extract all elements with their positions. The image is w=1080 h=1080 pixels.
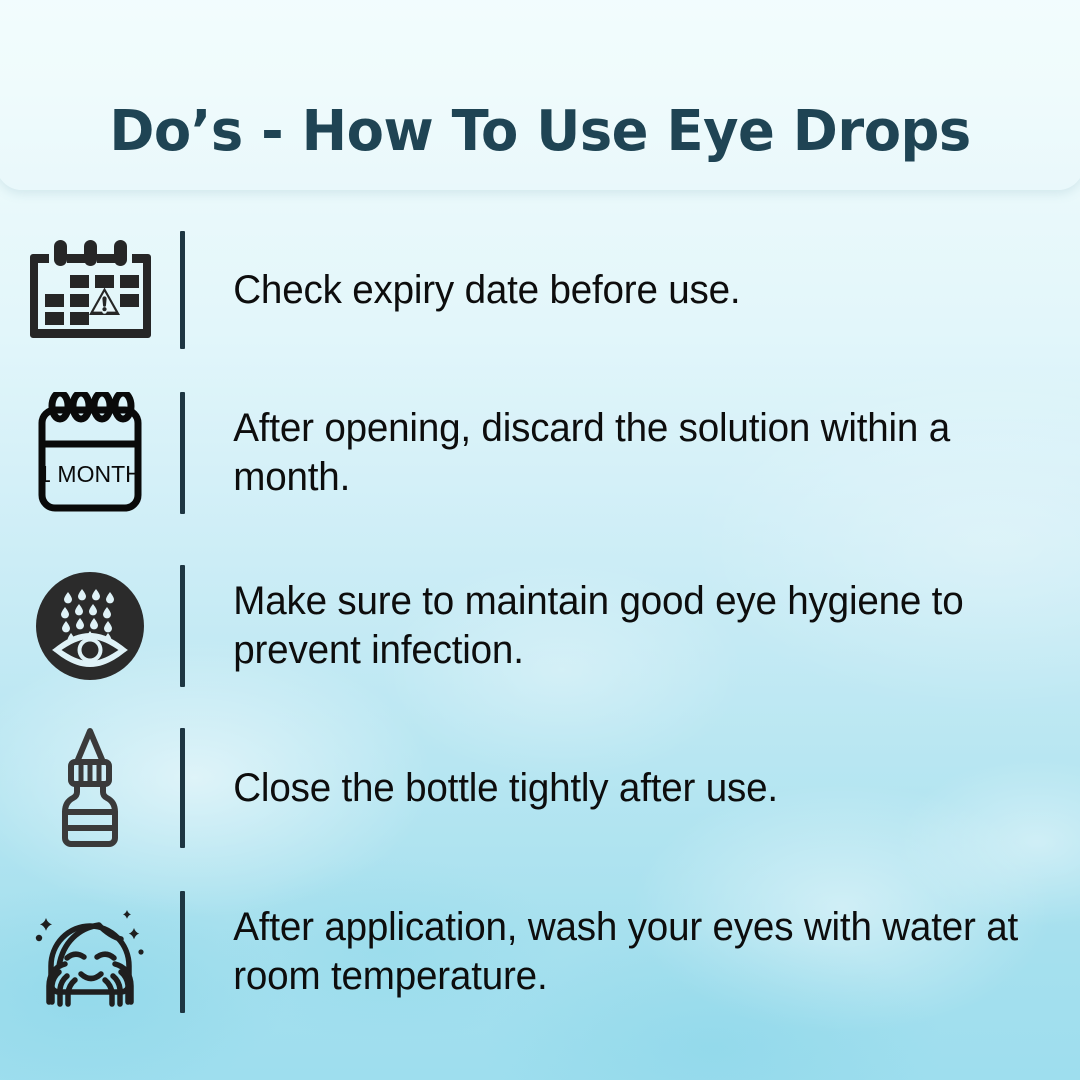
header-panel: Do’s - How To Use Eye Drops <box>0 0 1080 190</box>
tip-icon-4 <box>0 726 180 850</box>
list-item: After application, wash your eyes with w… <box>0 864 1080 1040</box>
list-item: Close the bottle tightly after use. <box>0 712 1080 864</box>
calendar-month-label: 1 MONTH <box>38 461 142 487</box>
tip-text-3: Make sure to maintain good eye hygiene t… <box>185 577 1049 675</box>
calendar-one-month-icon: 1 MONTH <box>26 392 154 514</box>
calendar-warning-icon <box>25 238 155 342</box>
tip-icon-3 <box>0 571 180 681</box>
list-item: 1 MONTH After opening, discard the solut… <box>0 366 1080 540</box>
list-item: Check expiry date before use. <box>0 214 1080 366</box>
eye-hygiene-icon <box>35 571 145 681</box>
poster-canvas: Do’s - How To Use Eye Drops <box>0 0 1080 1080</box>
tip-text-2: After opening, discard the solution with… <box>185 404 1049 502</box>
tips-list: Check expiry date before use. <box>0 214 1080 1040</box>
face-wash-icon <box>29 892 151 1012</box>
tip-icon-5 <box>0 892 180 1012</box>
page-title: Do’s - How To Use Eye Drops <box>109 99 970 164</box>
tip-text-1: Check expiry date before use. <box>185 266 769 315</box>
tip-icon-1 <box>0 238 180 342</box>
list-item: Make sure to maintain good eye hygiene t… <box>0 540 1080 712</box>
tip-icon-2: 1 MONTH <box>0 392 180 514</box>
tip-text-5: After application, wash your eyes with w… <box>185 903 1049 1001</box>
eye-drop-bottle-icon <box>47 726 133 850</box>
tip-text-4: Close the bottle tightly after use. <box>185 764 807 813</box>
